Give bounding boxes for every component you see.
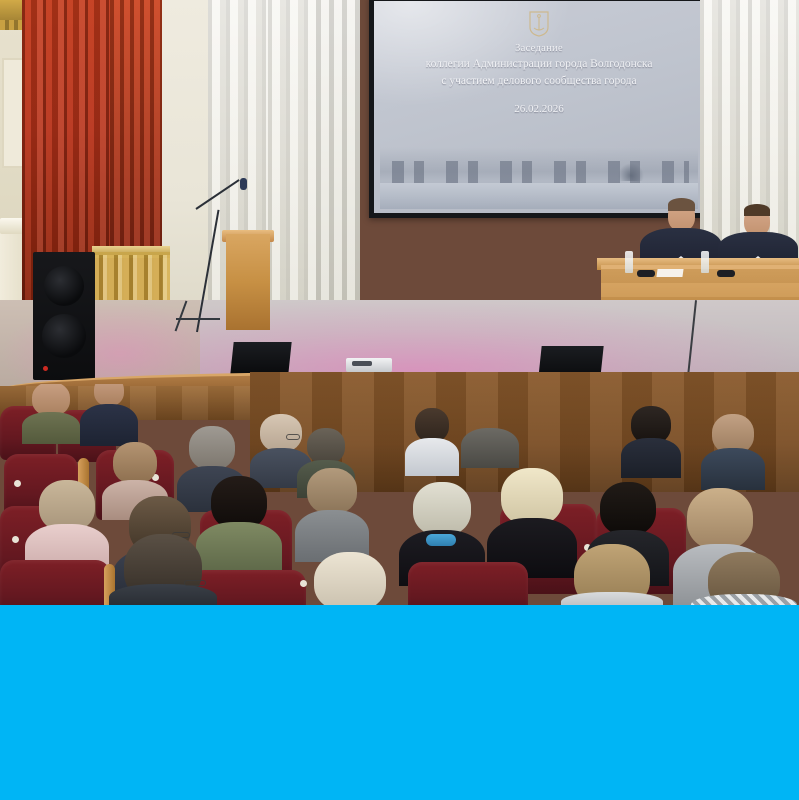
person-head	[600, 482, 656, 536]
person-head	[415, 408, 449, 442]
slide-text-block: Заседание коллегии Администрации города …	[374, 41, 704, 118]
slide-tree	[618, 163, 644, 181]
presidium-speaker-1-hair	[668, 198, 695, 211]
person-body	[80, 404, 138, 446]
slide-waterfront	[380, 183, 698, 209]
seat-stud	[12, 536, 19, 543]
audience-person	[700, 414, 766, 490]
seat	[0, 560, 110, 606]
person-head	[94, 384, 124, 406]
seat	[408, 562, 528, 606]
white-drape-2	[268, 0, 320, 348]
projection-screen: Заседание коллегии Администрации города …	[369, 0, 709, 218]
person-body	[109, 584, 217, 606]
microphone-tripod	[176, 318, 220, 320]
audience-person	[78, 384, 140, 446]
person-head	[189, 426, 235, 470]
person-head	[314, 552, 386, 606]
table-papers	[656, 269, 683, 277]
water-bottle-1	[625, 251, 633, 273]
person-body	[461, 428, 519, 468]
person-head	[307, 468, 357, 514]
gold-valance-tassels	[92, 252, 170, 306]
slide-line-2: коллегии Администрации города Волгодонск…	[374, 56, 704, 73]
audience-person	[460, 396, 520, 468]
news-social-card: Заседание коллегии Администрации города …	[0, 0, 799, 800]
person-scarf	[426, 534, 456, 546]
stage-monitor-left	[230, 342, 291, 374]
audience-person	[690, 552, 798, 606]
pa-speaker-stack	[33, 252, 95, 380]
slide-crest-icon	[528, 11, 550, 37]
table-microphone-2	[717, 270, 735, 277]
person-body	[621, 438, 681, 478]
audience-person	[620, 406, 682, 478]
person-head	[113, 442, 157, 484]
audience-person	[300, 552, 400, 606]
person-body	[405, 438, 459, 476]
microphone-head	[240, 178, 247, 190]
water-bottle-2	[701, 251, 709, 273]
person-head	[307, 428, 345, 464]
slide-date: 26.02.2026	[374, 102, 704, 118]
slide-line-1: Заседание	[374, 41, 704, 56]
projection-screen-surface: Заседание коллегии Администрации города …	[374, 1, 704, 213]
audience-person	[294, 468, 370, 562]
pa-driver-top	[44, 266, 84, 306]
person-head	[413, 482, 471, 536]
person-body	[22, 412, 80, 444]
slide-line-3: с участием делового сообщества города	[374, 73, 704, 90]
pa-power-led	[43, 366, 48, 371]
audience-area	[0, 384, 799, 606]
person-glasses	[184, 580, 206, 586]
person-head	[471, 396, 509, 432]
event-photograph: Заседание коллегии Администрации города …	[0, 0, 799, 606]
seat-stud	[14, 480, 21, 487]
audience-person	[404, 408, 460, 476]
pa-driver-bottom	[42, 314, 86, 358]
audience-person	[560, 544, 664, 606]
table-microphone-1	[637, 270, 655, 277]
headline-banner: В Волгодонске прошло расширенное заседан…	[0, 605, 799, 800]
audience-person	[22, 384, 80, 444]
audience-person	[108, 534, 218, 606]
person-head	[687, 488, 753, 550]
presidium-speaker-2-hair	[744, 204, 770, 216]
slide-cityscape-image	[380, 147, 698, 209]
person-body	[561, 592, 663, 606]
podium	[226, 234, 270, 330]
person-body	[701, 448, 765, 490]
